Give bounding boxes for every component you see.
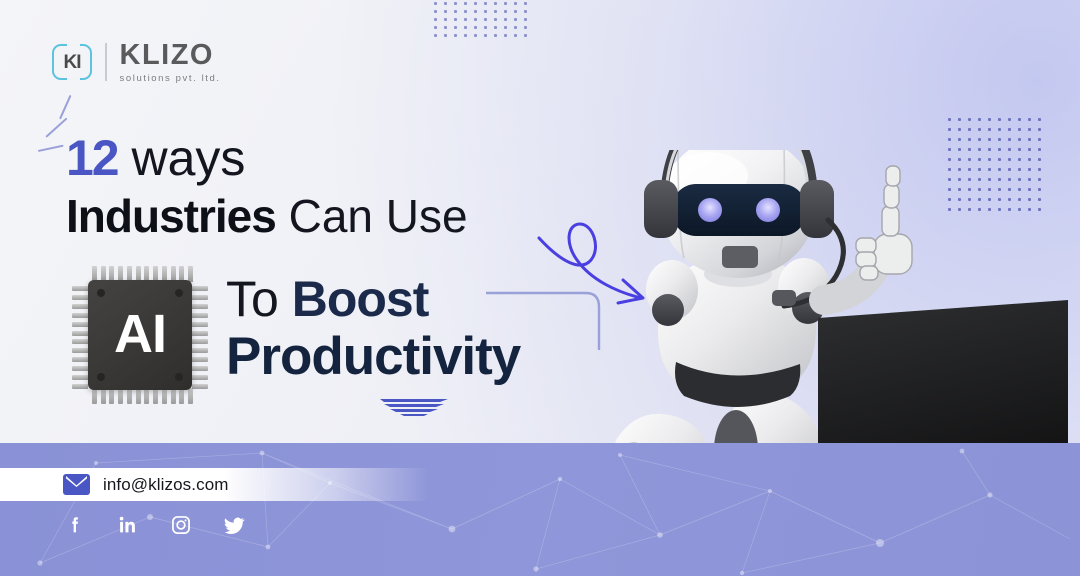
chip-pin [72,322,88,327]
headline-boost: Boost [279,271,429,327]
underline-swoosh-icon [378,396,450,418]
network-pattern [0,443,1080,576]
chip-pin [72,357,88,362]
chip-pin [72,366,88,371]
chip-body: AI [88,280,192,390]
email-address[interactable]: info@klizos.com [103,475,229,495]
chip-label: AI [114,307,166,361]
chip-pin [192,348,208,353]
chip-pin [72,313,88,318]
instagram-icon[interactable] [169,513,193,537]
chip-pin [72,375,88,380]
headline-number: 12 [66,130,118,186]
headline-can-use: Can Use [276,190,468,242]
social-links [63,513,246,537]
logo-wordmark: KLIZO solutions pvt. ltd. [120,41,221,84]
chip-pin [179,388,184,404]
chip-pin [153,388,158,404]
chip-pin [192,313,208,318]
headline-ways: ways [118,130,246,186]
chip-pin [171,388,176,404]
chip-corner-dot [97,289,105,297]
facebook-icon[interactable] [63,513,87,537]
chip-pin [101,388,106,404]
logo-mark-icon: KI [52,44,92,80]
chip-pin [72,384,88,389]
twitter-icon[interactable] [222,513,246,537]
chip-pin [192,366,208,371]
logo-tagline: solutions pvt. ltd. [120,74,221,84]
chip-pin [188,266,193,282]
chip-pin [192,375,208,380]
chip-pin [92,388,97,404]
chip-pin [72,331,88,336]
banner-canvas: KI KLIZO solutions pvt. ltd. 12 ways Ind… [0,0,1080,576]
headline-industries: Industries [66,190,276,242]
logo-brand-name: KLIZO [120,41,221,70]
chip-pin [192,339,208,344]
chip-pin [192,384,208,389]
chip-corner-dot [97,373,105,381]
chip-pin [192,357,208,362]
chip-pin [118,388,123,404]
chip-corner-dot [175,289,183,297]
chip-pin [127,388,132,404]
chip-pin [192,304,208,309]
envelope-icon [63,474,90,495]
chip-pin [72,348,88,353]
chip-pin [136,388,141,404]
dot-grid-top [434,2,526,38]
email-bar[interactable]: info@klizos.com [0,468,430,501]
chip-pin [192,286,208,291]
chip-pin [192,322,208,327]
chip-pin [192,295,208,300]
chip-pin [188,388,193,404]
ai-chip-icon: AI [70,264,210,406]
logo-mark-letters: KI [64,53,81,72]
chip-pin [72,304,88,309]
footer-band: info@klizos.com [0,443,1080,576]
chip-pin [109,388,114,404]
chip-pin [72,295,88,300]
chip-corner-dot [175,373,183,381]
chip-pin [72,339,88,344]
chip-pin [144,388,149,404]
logo-divider [105,43,107,81]
chip-pin [162,388,167,404]
chip-pin [72,286,88,291]
linkedin-icon[interactable] [116,513,140,537]
headline-to: To [226,271,279,327]
chip-pin [192,331,208,336]
brand-logo[interactable]: KI KLIZO solutions pvt. ltd. [52,38,221,86]
